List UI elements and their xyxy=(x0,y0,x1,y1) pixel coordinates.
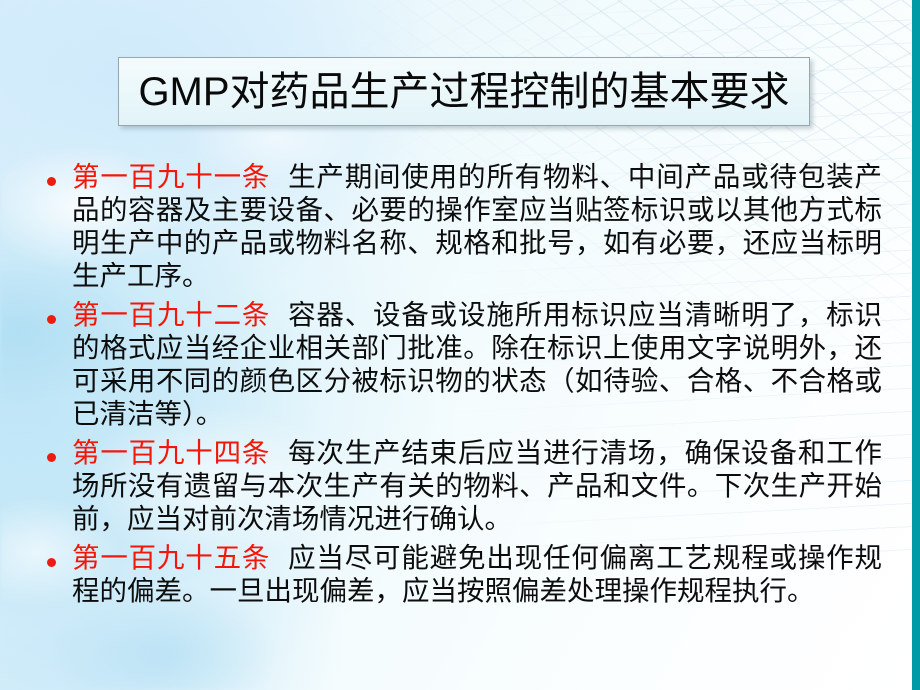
slide-canvas: GMP对药品生产过程控制的基本要求 第一百九十一条生产期间使用的所有物料、中间产… xyxy=(0,0,920,690)
bullet-paragraph: 第一百九十一条生产期间使用的所有物料、中间产品或待包装产品的容器及主要设备、必要… xyxy=(72,160,882,292)
regulation-label: 第一百九十四条 xyxy=(72,437,270,468)
slide-title-box: GMP对药品生产过程控制的基本要求 xyxy=(118,57,810,126)
right-edge-accent-stripe xyxy=(912,0,920,690)
bullet-marker-icon xyxy=(36,298,72,329)
slide-body: 第一百九十一条生产期间使用的所有物料、中间产品或待包装产品的容器及主要设备、必要… xyxy=(36,160,882,607)
bullet-paragraph: 第一百九十五条应当尽可能避免出现任何偏离工艺规程或操作规程的偏差。一旦出现偏差，… xyxy=(72,541,882,607)
list-item: 第一百九十四条每次生产结束后应当进行清场，确保设备和工作场所没有遗留与本次生产有… xyxy=(36,436,882,535)
regulation-label: 第一百九十一条 xyxy=(72,161,270,192)
slide-title: GMP对药品生产过程控制的基本要求 xyxy=(138,72,789,112)
bullet-paragraph: 第一百九十四条每次生产结束后应当进行清场，确保设备和工作场所没有遗留与本次生产有… xyxy=(72,436,882,535)
regulation-label: 第一百九十五条 xyxy=(72,542,270,573)
bullet-paragraph: 第一百九十二条容器、设备或设施所用标识应当清晰明了，标识的格式应当经企业相关部门… xyxy=(72,298,882,430)
bullet-marker-icon xyxy=(36,436,72,467)
list-item: 第一百九十一条生产期间使用的所有物料、中间产品或待包装产品的容器及主要设备、必要… xyxy=(36,160,882,292)
list-item: 第一百九十二条容器、设备或设施所用标识应当清晰明了，标识的格式应当经企业相关部门… xyxy=(36,298,882,430)
regulation-label: 第一百九十二条 xyxy=(72,299,270,330)
list-item: 第一百九十五条应当尽可能避免出现任何偏离工艺规程或操作规程的偏差。一旦出现偏差，… xyxy=(36,541,882,607)
bullet-marker-icon xyxy=(36,160,72,191)
bullet-marker-icon xyxy=(36,541,72,572)
